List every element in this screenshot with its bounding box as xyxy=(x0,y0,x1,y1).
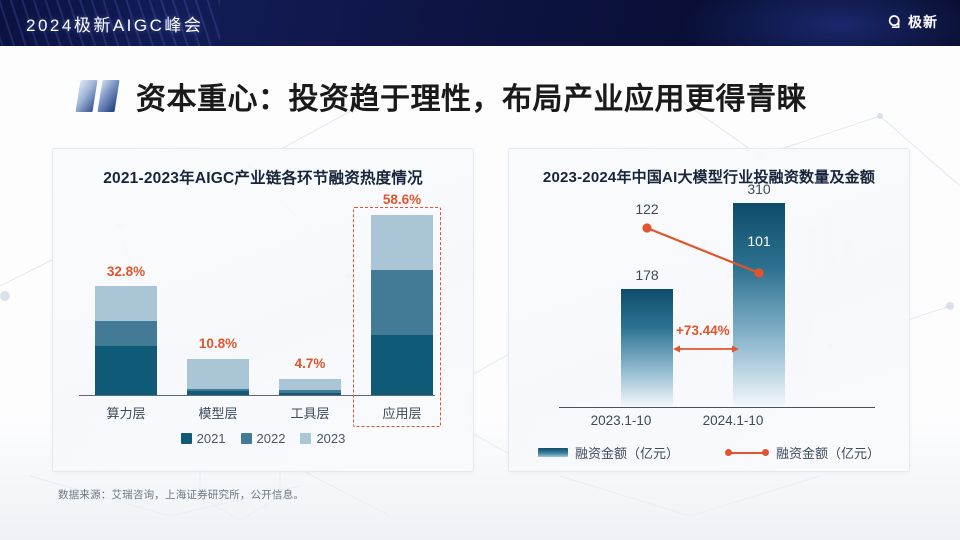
bar-value-2024: 310 xyxy=(747,181,770,197)
chart-legend-right: 融资金额（亿元） 融资金额（亿元） xyxy=(509,443,909,462)
legend-label-line: 融资金额（亿元） xyxy=(776,443,880,462)
legend-item-2022[interactable]: 2022 xyxy=(241,431,286,446)
legend-label-2023: 2023 xyxy=(316,431,345,446)
legend-item-2021[interactable]: 2021 xyxy=(181,431,226,446)
plot-area-right: 178 310 101 122 +73.44% xyxy=(543,203,883,407)
bar-label-1: 10.8% xyxy=(199,336,237,351)
legend-line-swatch-icon xyxy=(725,448,769,458)
chart-title-left: 2021-2023年AIGC产业链各环节融资热度情况 xyxy=(53,166,473,188)
legend-label-2022: 2022 xyxy=(257,431,286,446)
bar-group-0[interactable]: 32.8% xyxy=(95,286,157,395)
brand-name: 极新 xyxy=(908,12,938,32)
legend-label-bar: 融资金额（亿元） xyxy=(575,443,679,462)
bar-segment-2021-3 xyxy=(371,335,433,395)
x-label-3: 应用层 xyxy=(367,403,437,422)
brand-logo: 极新 xyxy=(887,12,938,32)
page-title-text: 资本重心：投资趋于理性，布局产业应用更得青睐 xyxy=(136,74,807,118)
legend-item-line-amount[interactable]: 融资金额（亿元） xyxy=(725,443,880,462)
bar-line-combo-chart: 178 310 101 122 +73.44% xyxy=(509,193,909,471)
summit-title: 2024极新AIGC峰会 xyxy=(26,11,203,36)
line-series-financing-amount xyxy=(543,203,883,407)
x-axis-labels-left: 算力层 模型层 工具层 应用层 xyxy=(79,399,447,425)
x-label-2024: 2024.1-10 xyxy=(673,413,793,428)
bar-group-1[interactable]: 10.8% xyxy=(187,359,249,395)
page-title: 资本重心：投资趋于理性，布局产业应用更得青睐 xyxy=(78,74,807,118)
slide-root: 2024极新AIGC峰会 极新 资本重心：投资趋于理性，布局产业应用更得青睐 2… xyxy=(0,0,960,540)
bar-label-2: 4.7% xyxy=(295,356,326,371)
x-label-1: 模型层 xyxy=(183,403,253,422)
double-parallelogram-icon xyxy=(78,78,122,114)
legend-swatch-2022 xyxy=(241,433,252,444)
bar-segment-2022-3 xyxy=(371,270,433,335)
chart-card-right: 2023-2024年中国AI大模型行业投融资数量及金额 178 310 101 … xyxy=(508,148,910,472)
bar-segment-2023-0 xyxy=(95,286,157,321)
legend-item-bar-amount[interactable]: 融资金额（亿元） xyxy=(538,443,679,462)
chart-card-left: 2021-2023年AIGC产业链各环节融资热度情况 32.8% 10.8% xyxy=(52,148,474,472)
bar-label-3: 58.6% xyxy=(383,192,421,207)
stacked-bar-chart: 32.8% 10.8% 4.7% xyxy=(53,193,473,471)
legend-bar-swatch xyxy=(538,448,568,457)
growth-arrow-icon xyxy=(673,343,739,355)
bar-series-container: 32.8% 10.8% 4.7% xyxy=(79,199,447,395)
plot-area-left: 32.8% 10.8% 4.7% xyxy=(79,199,447,395)
chart-title-right: 2023-2024年中国AI大模型行业投融资数量及金额 xyxy=(509,166,909,187)
bar-segment-2023-1 xyxy=(187,359,249,389)
circle-nine-logo-icon xyxy=(887,14,903,30)
growth-annotation: +73.44% xyxy=(676,323,730,338)
bar-group-3[interactable]: 58.6% xyxy=(371,215,433,395)
bar-segment-2022-0 xyxy=(95,321,157,346)
legend-swatch-2021 xyxy=(181,433,192,444)
bar-segment-2021-0 xyxy=(95,346,157,395)
x-axis-line-right xyxy=(559,407,875,408)
source-note: 数据来源：艾瑞咨询，上海证券研究所，公开信息。 xyxy=(58,487,304,502)
top-header-bar: 2024极新AIGC峰会 极新 xyxy=(0,0,960,46)
legend-swatch-2023 xyxy=(300,433,311,444)
bar-group-2[interactable]: 4.7% xyxy=(279,379,341,395)
bar-label-0: 32.8% xyxy=(107,264,145,279)
bar-segment-2023-2 xyxy=(279,379,341,390)
x-label-2023: 2023.1-10 xyxy=(561,413,681,428)
bar-segment-2023-3 xyxy=(371,215,433,270)
legend-label-2021: 2021 xyxy=(197,431,226,446)
x-label-0: 算力层 xyxy=(91,403,161,422)
legend-item-2023[interactable]: 2023 xyxy=(300,431,345,446)
x-label-2: 工具层 xyxy=(275,403,345,422)
x-axis-line-left xyxy=(79,395,435,396)
chart-legend-left: 2021 2022 2023 xyxy=(53,431,473,446)
line-value-2023: 122 xyxy=(635,201,658,217)
